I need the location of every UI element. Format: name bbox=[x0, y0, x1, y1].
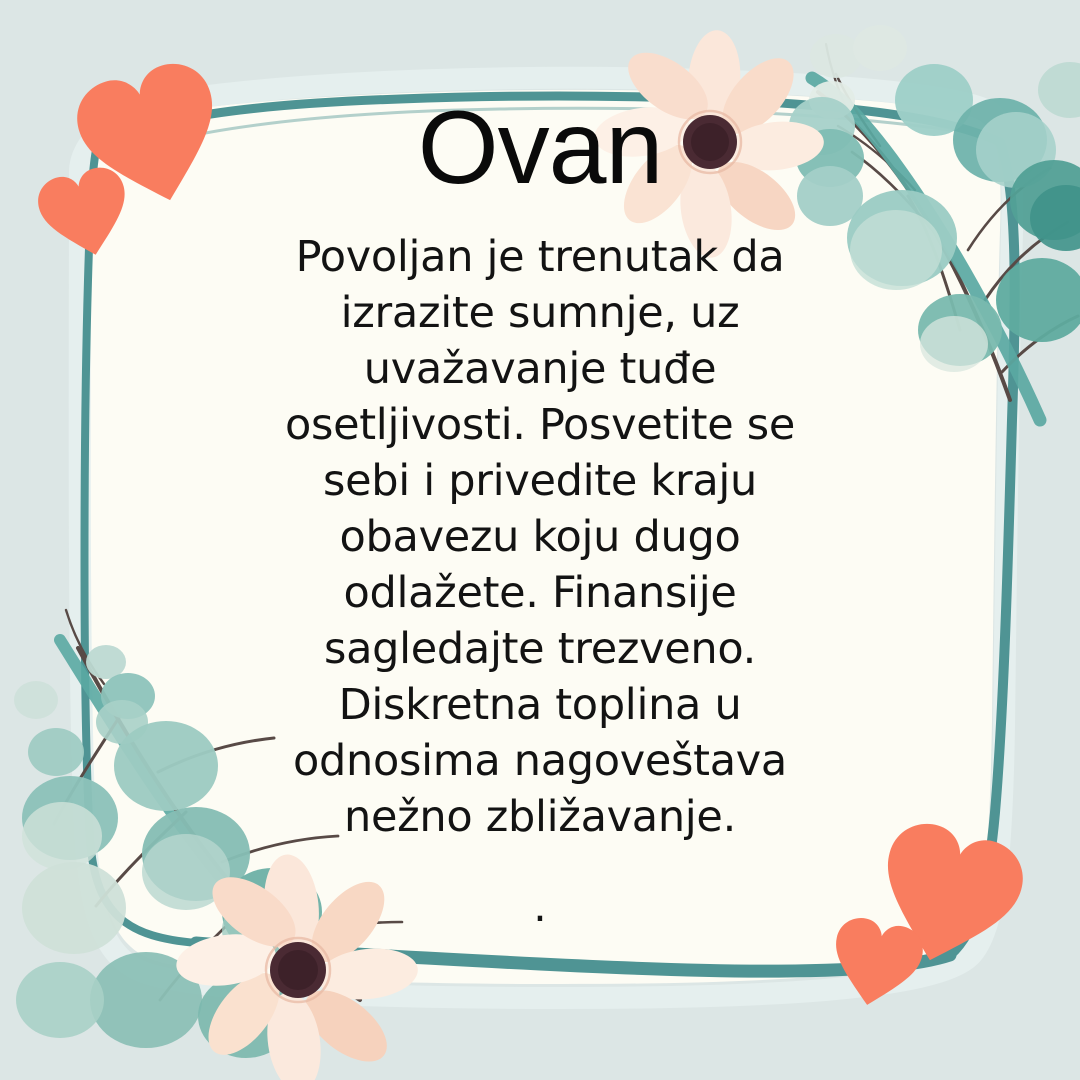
poster-canvas: Ovan Povoljan je trenutak daizrazite sum… bbox=[0, 0, 1080, 1080]
hearts-layer bbox=[0, 0, 1080, 1080]
heart-icon-top-left-small bbox=[33, 162, 138, 265]
